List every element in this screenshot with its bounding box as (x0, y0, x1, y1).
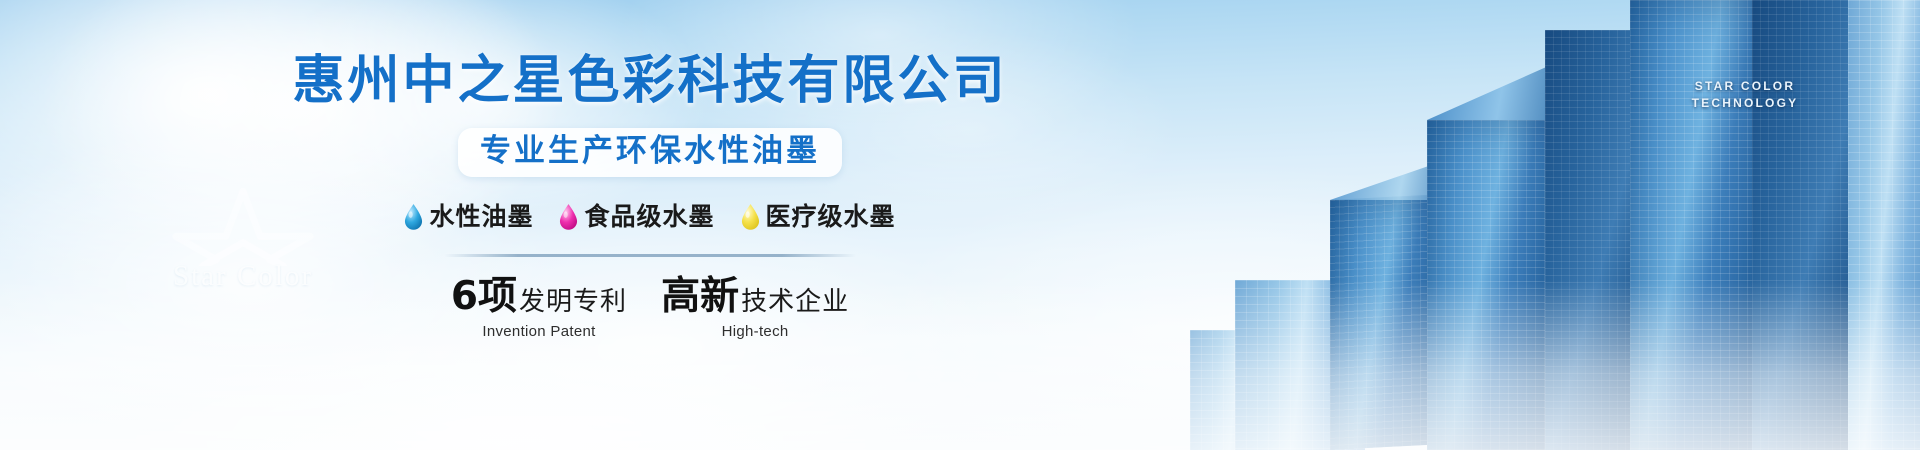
feature-item-food-grade-ink: 食品级水墨 (559, 203, 714, 230)
badge-line: 高新 技术企业 (661, 277, 849, 316)
badge-high-tech: 高新 技术企业 High-tech (661, 277, 849, 340)
company-subtitle: 专业生产环保水性油墨 (480, 136, 820, 167)
building-crown (1427, 60, 1562, 120)
section-divider (444, 254, 856, 257)
tower-logo-line-1: STAR COLOR (1680, 78, 1810, 95)
tower-logo: STAR COLOR TECHNOLOGY (1680, 78, 1810, 112)
feature-label: 食品级水墨 (584, 204, 714, 229)
badge-rest-text: 发明专利 (519, 289, 627, 315)
ink-drop-icon (741, 203, 760, 230)
credential-badges: 6项 发明专利 Invention Patent 高新 技术企业 High-te… (451, 277, 849, 340)
badge-strong-text: 高新 (661, 277, 739, 316)
ink-drop-icon (404, 203, 423, 230)
badge-invention-patent: 6项 发明专利 Invention Patent (451, 277, 627, 340)
feature-item-medical-grade-ink: 医疗级水墨 (741, 203, 896, 230)
badge-rest-text: 技术企业 (741, 289, 849, 315)
ink-drop-icon (559, 203, 578, 230)
subtitle-pill: 专业生产环保水性油墨 (458, 128, 842, 177)
feature-list: 水性油墨 食品级水墨 (404, 203, 895, 230)
banner-content: 惠州中之星色彩科技有限公司 专业生产环保水性油墨 水性油墨 (0, 0, 1300, 450)
feature-label: 水性油墨 (429, 204, 533, 229)
badge-strong-text: 6项 (451, 277, 517, 316)
badge-english-text: Invention Patent (482, 323, 595, 340)
feature-item-water-based-ink: 水性油墨 (404, 203, 533, 230)
feature-label: 医疗级水墨 (766, 204, 896, 229)
company-banner: Star Color STAR COLOR TECHNOLOGY 惠州中之星色彩… (0, 0, 1920, 450)
tower-logo-line-2: TECHNOLOGY (1680, 95, 1810, 112)
badge-english-text: High-tech (722, 323, 789, 340)
badge-line: 6项 发明专利 (451, 277, 627, 316)
company-title: 惠州中之星色彩科技有限公司 (292, 55, 1007, 107)
